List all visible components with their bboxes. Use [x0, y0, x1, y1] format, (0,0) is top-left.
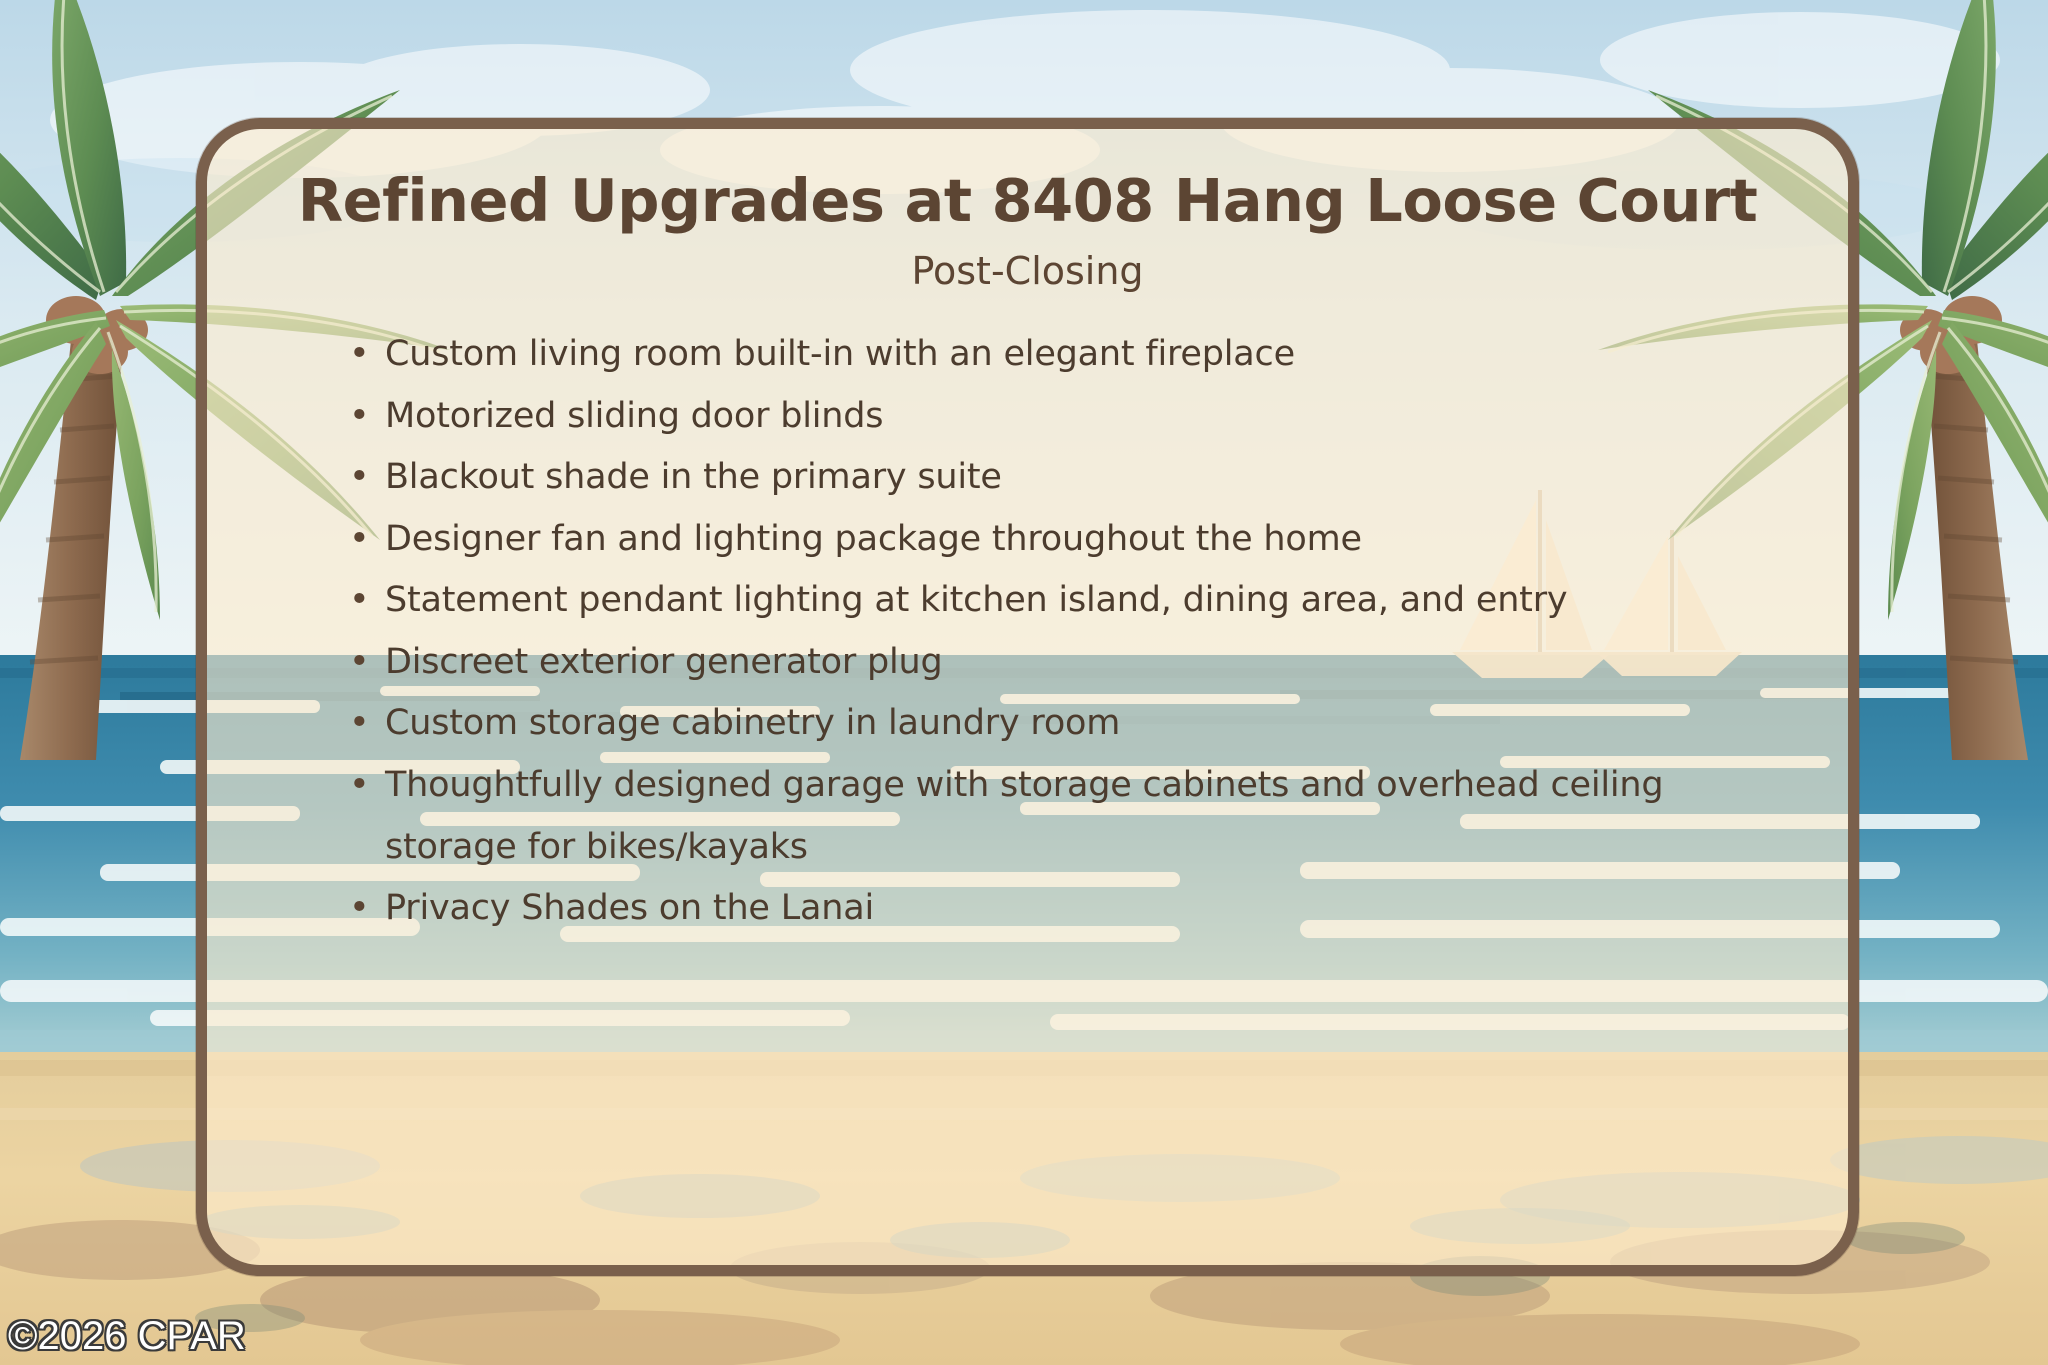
list-item: •Discreet exterior generator plug — [345, 632, 1756, 694]
list-item-label: Custom living room built-in with an eleg… — [385, 334, 1295, 374]
list-item: •Custom storage cabinetry in laundry roo… — [345, 693, 1756, 755]
bullet-dot-icon: • — [349, 570, 369, 632]
list-item-label: Thoughtfully designed garage with storag… — [385, 765, 1663, 867]
list-item-label: Blackout shade in the primary suite — [385, 457, 1002, 497]
list-item: •Thoughtfully designed garage with stora… — [345, 755, 1756, 878]
list-item: •Statement pendant lighting at kitchen i… — [345, 570, 1756, 632]
list-item: •Blackout shade in the primary suite — [345, 447, 1756, 509]
list-item: •Custom living room built-in with an ele… — [345, 324, 1756, 386]
page-title: Refined Upgrades at 8408 Hang Loose Cour… — [259, 169, 1796, 233]
bullet-dot-icon: • — [349, 693, 369, 755]
list-item: •Designer fan and lighting package throu… — [345, 509, 1756, 571]
upgrades-list: •Custom living room built-in with an ele… — [259, 324, 1796, 940]
list-item-label: Statement pendant lighting at kitchen is… — [385, 580, 1567, 620]
bullet-dot-icon: • — [349, 878, 369, 940]
bullet-dot-icon: • — [349, 447, 369, 509]
copyright-watermark: ©2026 CPAR — [8, 1314, 246, 1359]
list-item-label: Custom storage cabinetry in laundry room — [385, 703, 1120, 743]
bullet-dot-icon: • — [349, 386, 369, 448]
list-item-label: Discreet exterior generator plug — [385, 642, 943, 682]
list-item-label: Designer fan and lighting package throug… — [385, 519, 1362, 559]
upgrades-card: Refined Upgrades at 8408 Hang Loose Cour… — [196, 118, 1859, 1276]
list-item-label: Privacy Shades on the Lanai — [385, 888, 874, 928]
page-subtitle: Post-Closing — [259, 245, 1796, 298]
bullet-dot-icon: • — [349, 632, 369, 694]
list-item: •Privacy Shades on the Lanai — [345, 878, 1756, 940]
list-item-label: Motorized sliding door blinds — [385, 396, 883, 436]
list-item: •Motorized sliding door blinds — [345, 386, 1756, 448]
bullet-dot-icon: • — [349, 324, 369, 386]
bullet-dot-icon: • — [349, 509, 369, 571]
bullet-dot-icon: • — [349, 755, 369, 817]
